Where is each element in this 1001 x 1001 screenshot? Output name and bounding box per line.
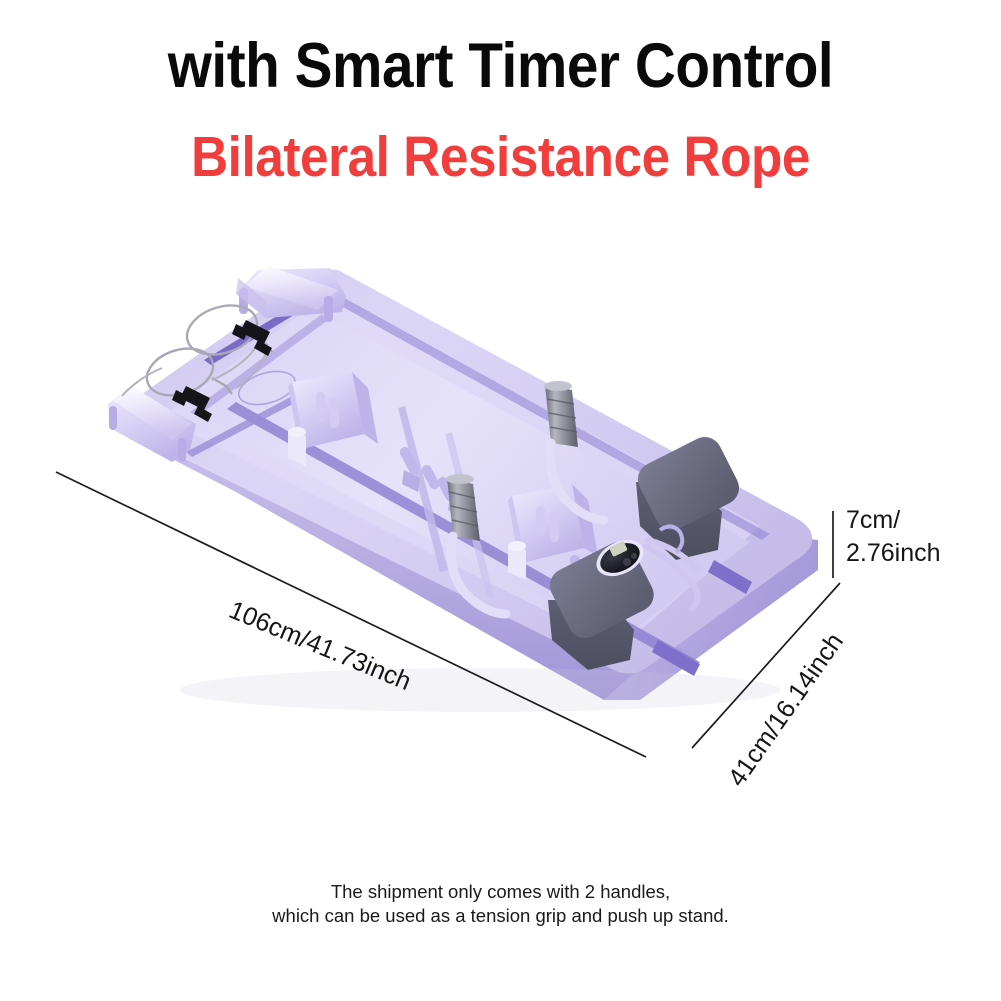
product-infographic: with Smart Timer Control Bilateral Resis… xyxy=(0,0,1001,1001)
shipment-note: The shipment only comes with 2 handles, … xyxy=(0,880,1001,928)
dimension-height-label: 7cm/ 2.76inch xyxy=(846,504,941,570)
shipment-note-line1: The shipment only comes with 2 handles, xyxy=(0,880,1001,904)
dimension-height-line2: 2.76inch xyxy=(846,537,941,570)
product-shadow xyxy=(180,668,780,712)
shipment-note-line2: which can be used as a tension grip and … xyxy=(0,904,1001,928)
product-photo xyxy=(0,0,1001,1001)
dimension-height-line1: 7cm/ xyxy=(846,504,941,537)
